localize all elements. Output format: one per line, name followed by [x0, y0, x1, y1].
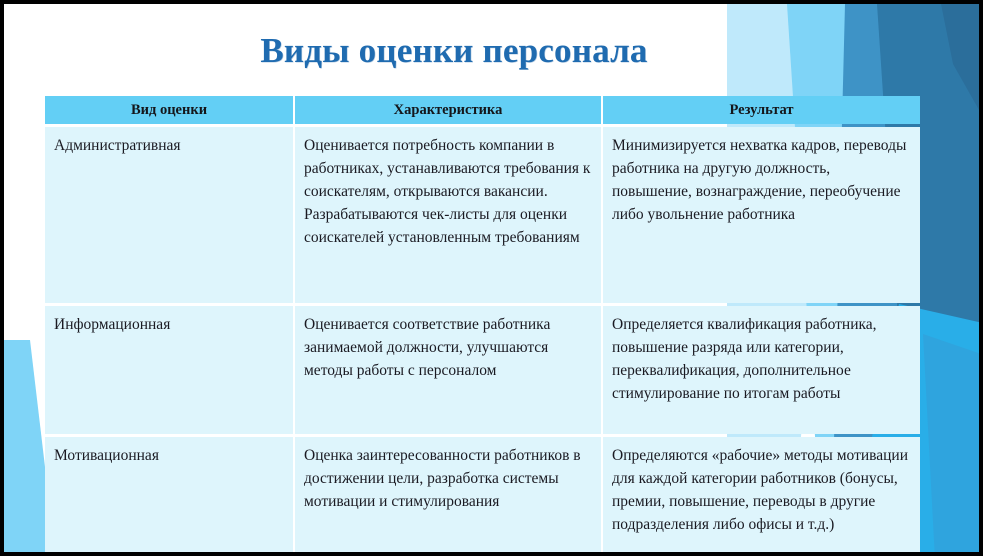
evaluation-types-table: Вид оценки Характеристика Результат Адми…	[43, 93, 922, 556]
cell-type-motivational: Мотивационная	[45, 437, 293, 556]
column-header-characteristic: Характеристика	[295, 96, 601, 124]
cell-type-informational: Информационная	[45, 306, 293, 434]
table-header-row: Вид оценки Характеристика Результат	[45, 96, 920, 124]
slide-canvas: Виды оценки персонала Вид оценки Характе…	[4, 4, 983, 556]
table-row: Информационная Оценивается соответствие …	[45, 306, 920, 434]
evaluation-types-table-wrapper: Вид оценки Характеристика Результат Адми…	[43, 93, 918, 556]
cell-characteristic-informational: Оценивается соответствие работника заним…	[295, 306, 601, 434]
cell-result-motivational: Определяются «рабочие» методы мотивации …	[603, 437, 920, 556]
cell-result-administrative: Минимизируется нехватка кадров, переводы…	[603, 127, 920, 303]
table-row: Мотивационная Оценка заинтересованности …	[45, 437, 920, 556]
column-header-type: Вид оценки	[45, 96, 293, 124]
table-body: Административная Оценивается потребность…	[45, 127, 920, 556]
cell-type-administrative: Административная	[45, 127, 293, 303]
cell-characteristic-administrative: Оценивается потребность компании в работ…	[295, 127, 601, 303]
table-head: Вид оценки Характеристика Результат	[45, 96, 920, 124]
cell-result-informational: Определяется квалификация работника, пов…	[603, 306, 920, 434]
column-header-result: Результат	[603, 96, 920, 124]
table-row: Административная Оценивается потребность…	[45, 127, 920, 303]
slide-frame: Виды оценки персонала Вид оценки Характе…	[0, 0, 983, 556]
page-title: Виды оценки персонала	[4, 30, 904, 72]
cell-characteristic-motivational: Оценка заинтересованности работников в д…	[295, 437, 601, 556]
